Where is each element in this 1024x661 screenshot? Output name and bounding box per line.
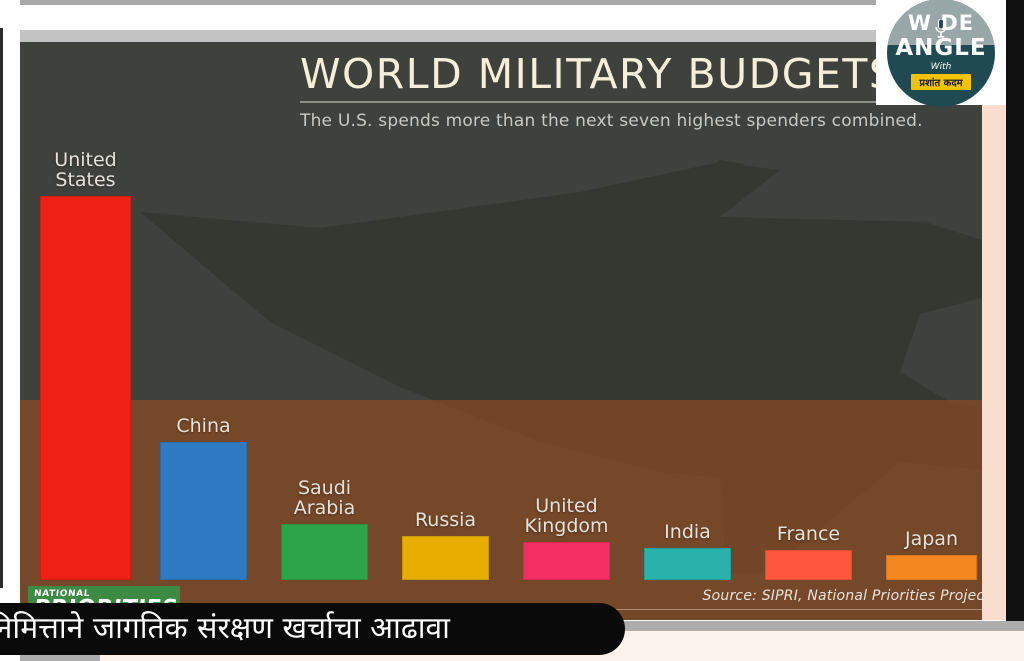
caption-text: निमित्ताने जागतिक संरक्षण खर्चाचा आढावा xyxy=(0,614,450,644)
screenshot-stage: WORLD MILITARY BUDGETS The U.S. spends m… xyxy=(0,0,1024,661)
inner-frame-bar xyxy=(18,30,1024,42)
source-credit: Source: SIPRI, National Priorities Proje… xyxy=(703,588,990,604)
bar-united-states: United States xyxy=(40,196,131,580)
logo-with-text: With xyxy=(931,62,952,72)
logo-circle: W DE ANGLE With प्रशांत कदम xyxy=(887,0,995,107)
logo-host-name: प्रशांत कदम xyxy=(911,74,970,90)
bar-india: India xyxy=(644,548,731,580)
bar-label: China xyxy=(176,417,230,437)
bar-united-kingdom: United Kingdom xyxy=(523,542,610,580)
infographic-panel: WORLD MILITARY BUDGETS The U.S. spends m… xyxy=(20,42,1004,620)
bar-label: Russia xyxy=(415,511,476,531)
bar-rect xyxy=(402,536,489,580)
left-edge-line xyxy=(0,28,3,588)
bar-label: Japan xyxy=(905,530,958,550)
microphone-icon xyxy=(935,19,948,39)
bar-france: France xyxy=(765,550,852,580)
bar-rect xyxy=(886,555,977,580)
left-white-margin xyxy=(0,0,20,661)
bar-label: India xyxy=(664,523,711,543)
bar-rect xyxy=(644,548,731,580)
bar-label: United Kingdom xyxy=(524,497,608,537)
bar-russia: Russia xyxy=(402,536,489,580)
bar-rect xyxy=(160,442,247,580)
bar-china: China xyxy=(160,442,247,580)
wide-angle-logo-badge[interactable]: W DE ANGLE With प्रशांत कदम xyxy=(876,0,1006,105)
bar-saudi-arabia: Saudi Arabia xyxy=(281,524,368,580)
bar-rect xyxy=(281,524,368,580)
logo-angle-text: ANGLE xyxy=(895,37,986,60)
bar-label: United States xyxy=(54,151,116,191)
top-frame-strip xyxy=(0,0,1024,5)
bar-japan: Japan xyxy=(886,555,977,580)
right-black-edge xyxy=(1006,0,1024,621)
bar-label: Saudi Arabia xyxy=(294,479,355,519)
bar-label: France xyxy=(777,525,840,545)
lower-third-caption-bar: निमित्ताने जागतिक संरक्षण खर्चाचा आढावा xyxy=(0,603,625,655)
bar-chart-plot-area: United StatesChinaSaudi ArabiaRussiaUnit… xyxy=(20,42,1004,620)
bar-rect xyxy=(523,542,610,580)
bar-rect xyxy=(765,550,852,580)
right-cream-border xyxy=(982,42,1006,620)
bar-rect xyxy=(40,196,131,580)
